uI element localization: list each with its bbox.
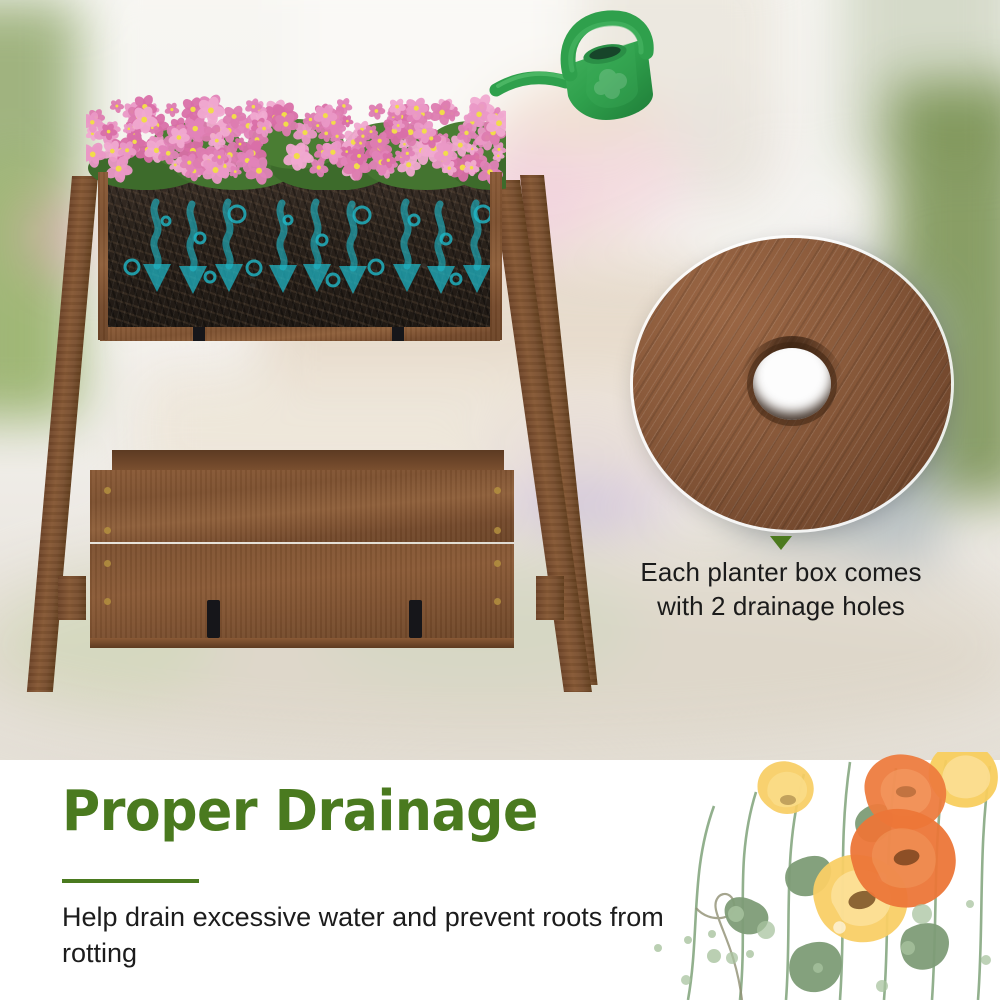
inset-caption-line1: Each planter box comes <box>600 556 962 590</box>
planter-top-rim-front <box>100 327 500 341</box>
metal-bracket-bottom-right <box>409 600 422 638</box>
screw <box>104 487 111 494</box>
planter-bottom-inner-lip <box>112 450 504 470</box>
planter-foot-right <box>536 576 564 620</box>
planter-foot-left <box>58 576 86 620</box>
metal-bracket-top-left <box>193 327 205 341</box>
metal-bracket-top-right <box>392 327 404 341</box>
screw <box>104 527 111 534</box>
inset-caption-line2: with 2 drainage holes <box>600 590 962 624</box>
pink-flowers <box>86 86 506 186</box>
planter-top-rim-left <box>98 172 108 340</box>
screw <box>104 598 111 605</box>
drainage-hole <box>753 348 831 420</box>
planter-top-rim-right <box>490 172 502 340</box>
product-feature-graphic: Each planter box comes with 2 drainage h… <box>0 0 1000 1000</box>
title-underline <box>62 879 199 883</box>
drainage-hole-closeup <box>633 238 951 530</box>
triangle-down-icon <box>770 536 792 550</box>
inset-caption: Each planter box comes with 2 drainage h… <box>600 556 962 624</box>
page-body-text: Help drain excessive water and prevent r… <box>62 900 712 972</box>
planter-bottom-board-lower <box>90 544 514 642</box>
planter-soil <box>104 170 494 335</box>
screw <box>494 560 501 567</box>
planter-bottom-base-strip <box>90 638 514 648</box>
metal-bracket-bottom-left <box>207 600 220 638</box>
planter-bottom-board-upper <box>90 470 514 542</box>
screw <box>494 598 501 605</box>
product-photo: Each planter box comes with 2 drainage h… <box>0 0 1000 760</box>
screw <box>494 487 501 494</box>
screw <box>104 560 111 567</box>
drainage-arrow-group <box>104 170 494 335</box>
screw <box>494 527 501 534</box>
page-title: Proper Drainage <box>62 784 538 840</box>
watering-can-icon <box>488 8 698 148</box>
